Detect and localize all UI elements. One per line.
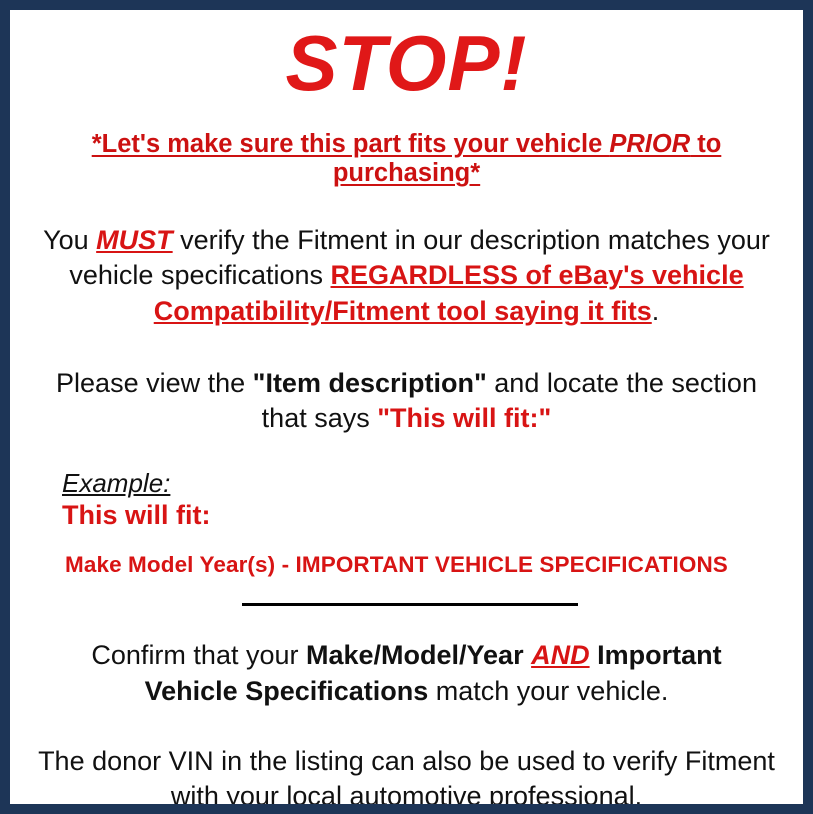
tagline-prefix: *Let's make sure this part fits your veh…	[92, 130, 610, 158]
and-emphasis: AND	[531, 640, 590, 670]
make-model-year-emphasis: Make/Model/Year	[306, 640, 531, 670]
view-part-1: Please view the	[56, 368, 253, 398]
notice-content: STOP! *Let's make sure this part fits yo…	[10, 10, 803, 804]
divider-wrap	[22, 577, 791, 606]
item-description-emphasis: "Item description"	[253, 368, 487, 398]
confirm-part-3: match your vehicle.	[428, 676, 668, 706]
example-label: Example:	[62, 469, 170, 498]
confirm-paragraph: Confirm that your Make/Model/Year AND Im…	[22, 606, 791, 709]
must-part-3: .	[652, 296, 660, 326]
this-will-fit-emphasis: "This will fit:"	[377, 403, 551, 433]
page-title: STOP!	[22, 10, 791, 102]
section-divider	[242, 603, 578, 606]
tagline-text: *Let's make sure this part fits your veh…	[22, 102, 791, 189]
confirm-part-1: Confirm that your	[91, 640, 306, 670]
view-description-paragraph: Please view the "Item description" and l…	[22, 330, 791, 437]
must-emphasis: MUST	[96, 225, 173, 255]
must-part-1: You	[43, 225, 96, 255]
must-verify-paragraph: You MUST verify the Fitment in our descr…	[22, 189, 791, 330]
example-block: Example: This will fit: Make Model Year(…	[22, 437, 791, 578]
donor-vin-paragraph: The donor VIN in the listing can also be…	[22, 710, 791, 814]
example-spec-line: Make Model Year(s) - IMPORTANT VEHICLE S…	[62, 530, 791, 577]
tagline-emphasis-prior: PRIOR	[609, 130, 690, 158]
example-fit-heading: This will fit:	[62, 498, 791, 530]
fitment-notice-card: STOP! *Let's make sure this part fits yo…	[0, 0, 813, 814]
